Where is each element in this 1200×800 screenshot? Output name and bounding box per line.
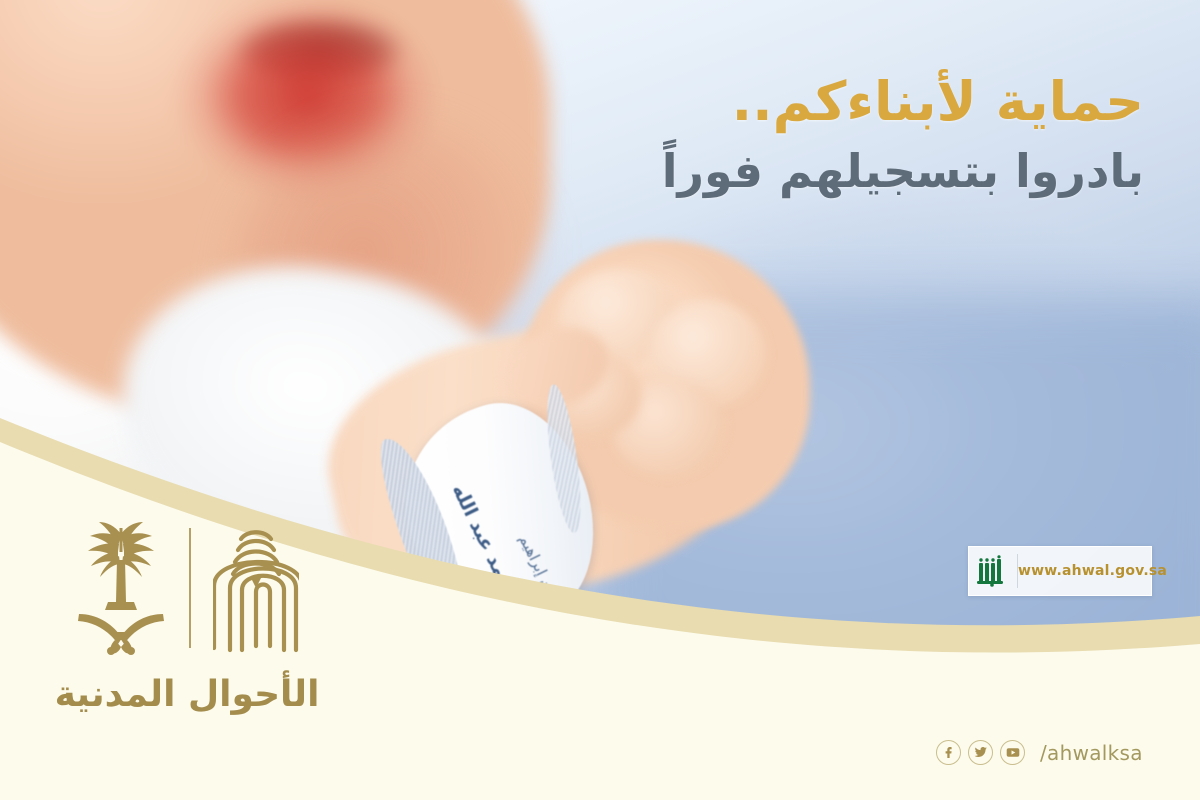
headline-primary: حماية لأبناءكم.. (662, 72, 1144, 132)
social-bar: /ahwalksa (936, 740, 1143, 765)
website-badge[interactable]: www.ahwal.gov.sa (968, 546, 1152, 596)
brand-name-label: الأحوال المدنية (52, 674, 322, 715)
brand-divider (189, 528, 191, 648)
campaign-banner: أحمد عبد الله بن إبراهيم حماية لأبناءكم.… (0, 0, 1200, 800)
social-handle-label[interactable]: /ahwalksa (1040, 741, 1143, 765)
headline-block: حماية لأبناءكم.. بادروا بتسجيلهم فوراً (662, 72, 1144, 200)
twitter-icon[interactable] (968, 740, 993, 765)
saudi-emblem-icon (75, 518, 167, 658)
facebook-icon[interactable] (936, 740, 961, 765)
fingerprint-icon (213, 518, 299, 658)
website-url-label[interactable]: www.ahwal.gov.sa (1018, 563, 1167, 579)
youtube-icon[interactable] (1000, 740, 1025, 765)
brand-logo: الأحوال المدنية (52, 508, 322, 715)
absher-green-icon (969, 547, 1017, 595)
headline-secondary: بادروا بتسجيلهم فوراً (662, 144, 1144, 199)
